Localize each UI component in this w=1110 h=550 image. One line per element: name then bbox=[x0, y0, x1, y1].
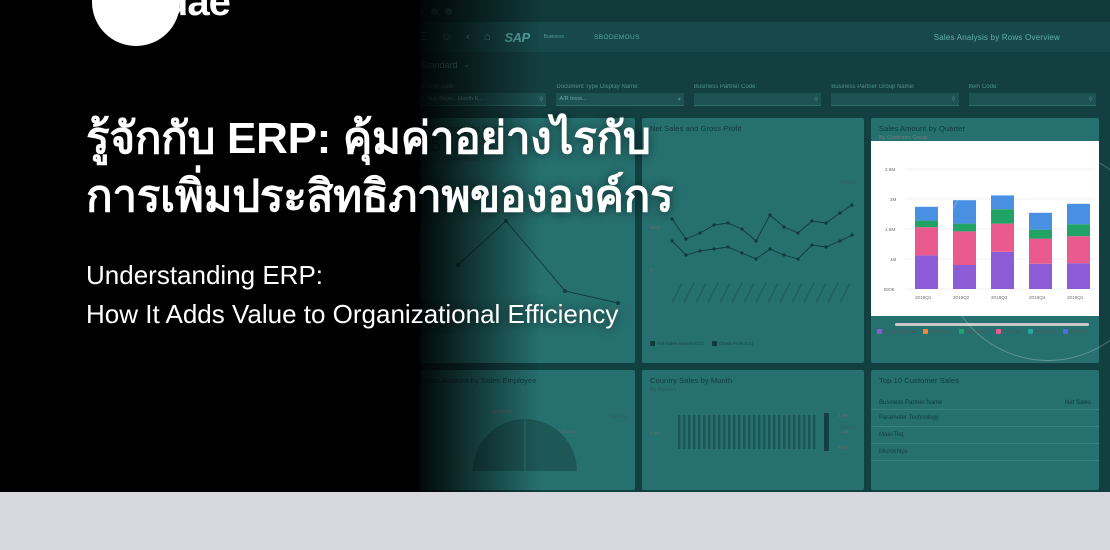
value-help-icon[interactable]: ⚲ bbox=[1089, 96, 1093, 103]
article-banner: ☰ ☺ ‹ ⌂ SAP Business SBODEMOUS Sales Ana… bbox=[0, 0, 1110, 492]
card-detail-link[interactable]: Details bbox=[839, 425, 856, 431]
card-country-sales-by-month[interactable]: Country Sales by Month By Amount Details… bbox=[642, 370, 864, 490]
filter-label: Business Partner Code: bbox=[694, 84, 821, 90]
cell-partner-name: Maxi-Teq bbox=[879, 432, 903, 438]
filter-value: A/R Invoi... bbox=[559, 96, 586, 102]
filter-input[interactable]: A/R Invoi... ▾ bbox=[556, 93, 683, 106]
legend-item: Gross Profit (LC) bbox=[712, 341, 753, 346]
filter-field-bp-code: Business Partner Code: ⚲ bbox=[694, 84, 821, 106]
svg-text:1.5M: 1.5M bbox=[838, 413, 848, 418]
chevron-down-icon[interactable]: ▾ bbox=[678, 96, 681, 103]
trend-legend: Net Sales Amount (LC) Gross Profit (LC) bbox=[642, 341, 864, 346]
filter-label: Item Code: bbox=[969, 84, 1096, 90]
headline-thai-line-2: การเพิ่มประสิทธิภาพขององค์กร bbox=[86, 168, 1086, 226]
sap-logo-subtitle: Business bbox=[544, 34, 564, 40]
legend-label: Gross Profit (LC) bbox=[719, 341, 753, 346]
filter-input[interactable]: ⚲ bbox=[694, 93, 821, 106]
cell-partner-name: Parameter Technology bbox=[879, 415, 939, 421]
page-title: Sales Analysis by Rows Overview bbox=[934, 33, 1060, 42]
banner-copy: รู้จักกับ ERP: คุ้มค่าอย่างไรกับ การเพิ่… bbox=[86, 110, 1086, 333]
legend-label: Net Sales Amount (LC) bbox=[657, 341, 704, 346]
country-bar-chart: 2.5M 1.5M 1M 500K bbox=[642, 403, 864, 458]
logo-wordmark: sanuae bbox=[98, 0, 230, 25]
table-row[interactable]: Parameter Technology bbox=[871, 410, 1099, 427]
page-background-below-banner bbox=[0, 492, 1110, 550]
legend-swatch bbox=[650, 341, 655, 346]
subtitle-block: Understanding ERP: How It Adds Value to … bbox=[86, 256, 1086, 333]
filter-field-item-code: Item Code: ⚲ bbox=[969, 84, 1096, 106]
filter-label: Document Type Display Name: bbox=[556, 84, 683, 90]
brand-logo[interactable]: sanuae bbox=[92, 0, 180, 46]
headline-thai-line-1: รู้จักกับ ERP: คุ้มค่าอย่างไรกับ bbox=[86, 110, 1086, 168]
card-title: Top 10 Customer Sales bbox=[871, 370, 1099, 385]
card-subtitle: By Amount bbox=[642, 385, 864, 393]
svg-text:2.5M: 2.5M bbox=[650, 431, 660, 436]
tenant-label: SBODEMOUS bbox=[594, 34, 640, 41]
subtitle-english-line-2: How It Adds Value to Organizational Effi… bbox=[86, 295, 1086, 333]
filter-field-document-type: Document Type Display Name: A/R Invoi...… bbox=[556, 84, 683, 106]
legend-swatch bbox=[712, 341, 717, 346]
card-title: Country Sales by Month bbox=[642, 370, 864, 385]
table-row[interactable]: Microchips bbox=[871, 444, 1099, 461]
legend-item: Net Sales Amount (LC) bbox=[650, 341, 704, 346]
value-help-icon[interactable]: ⚲ bbox=[951, 96, 955, 103]
filter-input[interactable]: ⚲ bbox=[969, 93, 1096, 106]
filter-label: Business Partner Group Name: bbox=[831, 84, 958, 90]
svg-text:500K: 500K bbox=[838, 445, 850, 450]
card-detail-link[interactable]: Details bbox=[610, 414, 627, 420]
cell-partner-name: Microchips bbox=[879, 449, 908, 455]
page-root: ☰ ☺ ‹ ⌂ SAP Business SBODEMOUS Sales Ana… bbox=[0, 0, 1110, 550]
column-header-name: Business Partner Name bbox=[879, 400, 942, 406]
value-help-icon[interactable]: ⚲ bbox=[814, 96, 818, 103]
filter-field-bp-group: Business Partner Group Name: ⚲ bbox=[831, 84, 958, 106]
table-row[interactable]: Maxi-Teq bbox=[871, 427, 1099, 444]
column-header-value: Net Sales bbox=[1065, 400, 1091, 406]
card-top10-customer-sales[interactable]: Top 10 Customer Sales Business Partner N… bbox=[871, 370, 1099, 490]
subtitle-english-line-1: Understanding ERP: bbox=[86, 256, 1086, 294]
table-header-row: Business Partner Name Net Sales bbox=[871, 395, 1099, 410]
filter-input[interactable]: ⚲ bbox=[831, 93, 958, 106]
